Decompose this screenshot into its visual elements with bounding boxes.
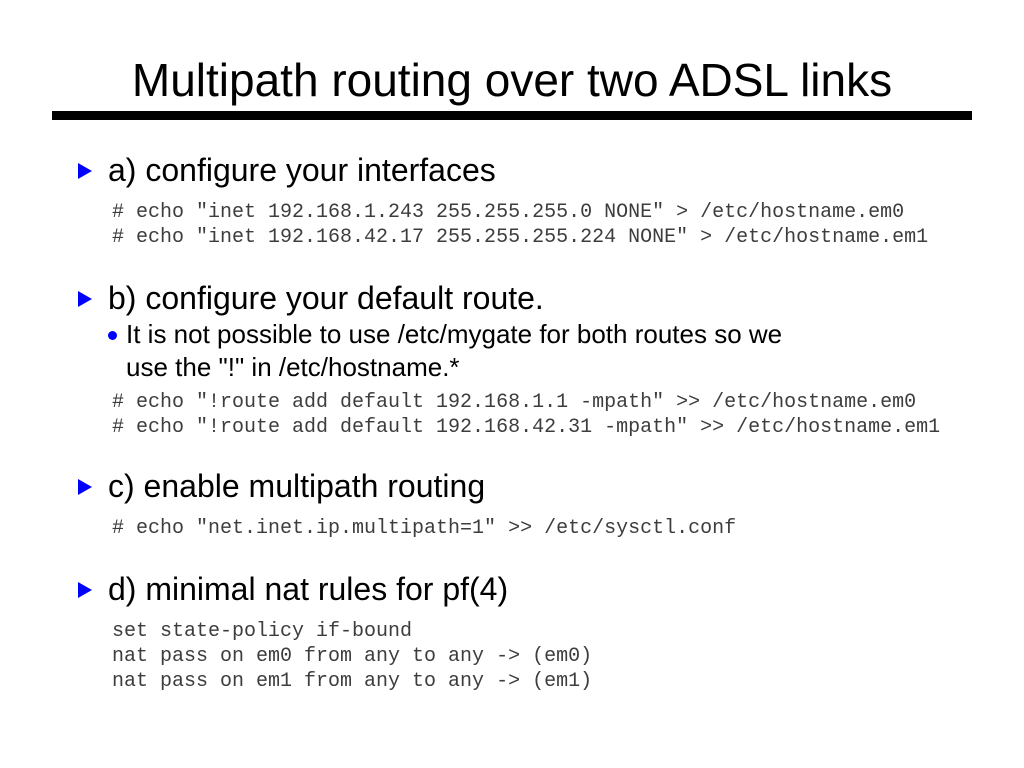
section-b-heading: b) configure your default route. (0, 278, 1024, 318)
section-d-code-line-2: nat pass on em0 from any to any -> (em0) (0, 644, 1024, 669)
section-b-code-line-1: # echo "!route add default 192.168.1.1 -… (0, 390, 1024, 415)
section-d-heading: d) minimal nat rules for pf(4) (0, 569, 1024, 609)
section-d-code-line-1: set state-policy if-bound (0, 619, 1024, 644)
section-b-subbullet-line-2: use the "!" in /etc/hostname.* (126, 351, 1024, 384)
title-block: Multipath routing over two ADSL links (52, 52, 972, 120)
section-d-code-line-3: nat pass on em1 from any to any -> (em1) (0, 669, 1024, 694)
section-b: b) configure your default route. It is n… (0, 278, 1024, 440)
triangle-bullet-icon (78, 291, 92, 307)
triangle-bullet-icon (78, 582, 92, 598)
section-a-code-line-1: # echo "inet 192.168.1.243 255.255.255.0… (0, 200, 1024, 225)
section-a-heading: a) configure your interfaces (0, 150, 1024, 190)
slide-body: a) configure your interfaces # echo "ine… (0, 150, 1024, 694)
section-b-heading-label: b) configure your default route. (108, 280, 544, 316)
dot-bullet-icon (108, 331, 117, 340)
slide: Multipath routing over two ADSL links a)… (0, 0, 1024, 768)
title-underline-rule (52, 111, 972, 120)
section-d: d) minimal nat rules for pf(4) set state… (0, 569, 1024, 694)
page-title: Multipath routing over two ADSL links (52, 52, 972, 108)
section-a-heading-label: a) configure your interfaces (108, 152, 496, 188)
section-b-subbullet-line-1: It is not possible to use /etc/mygate fo… (126, 318, 1024, 351)
section-c-heading: c) enable multipath routing (0, 466, 1024, 506)
section-c: c) enable multipath routing # echo "net.… (0, 466, 1024, 541)
section-a: a) configure your interfaces # echo "ine… (0, 150, 1024, 250)
triangle-bullet-icon (78, 479, 92, 495)
section-c-code-line-1: # echo "net.inet.ip.multipath=1" >> /etc… (0, 516, 1024, 541)
section-b-subbullet: It is not possible to use /etc/mygate fo… (0, 318, 1024, 384)
section-a-code-line-2: # echo "inet 192.168.42.17 255.255.255.2… (0, 225, 1024, 250)
section-c-heading-label: c) enable multipath routing (108, 468, 485, 504)
triangle-bullet-icon (78, 163, 92, 179)
section-d-heading-label: d) minimal nat rules for pf(4) (108, 571, 508, 607)
section-b-code-line-2: # echo "!route add default 192.168.42.31… (0, 415, 1024, 440)
